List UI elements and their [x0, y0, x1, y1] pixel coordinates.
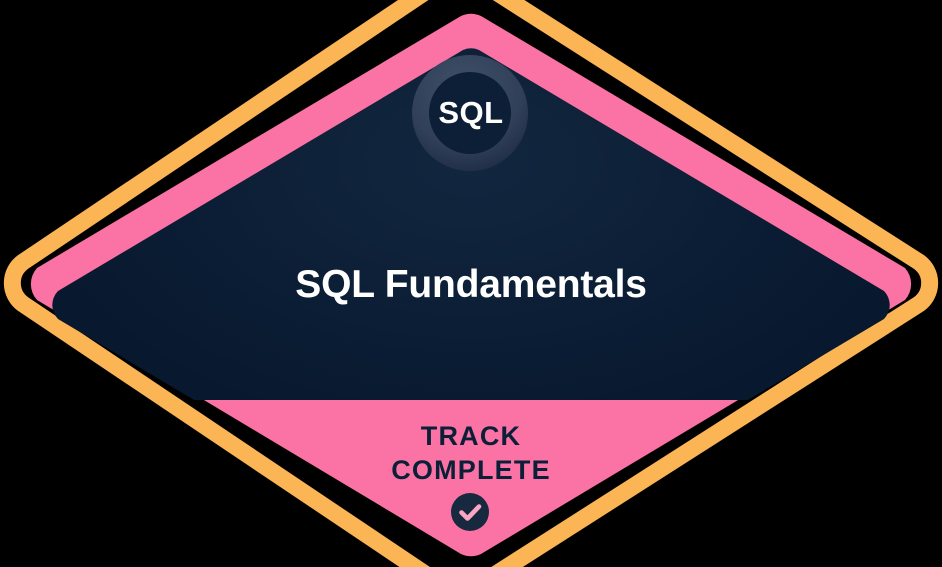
badge-graphic [0, 0, 942, 567]
track-completion-badge: SQL SQL Fundamentals TRACK COMPLETE [0, 0, 942, 567]
completion-check-badge [451, 493, 489, 531]
sql-medallion [412, 55, 528, 171]
